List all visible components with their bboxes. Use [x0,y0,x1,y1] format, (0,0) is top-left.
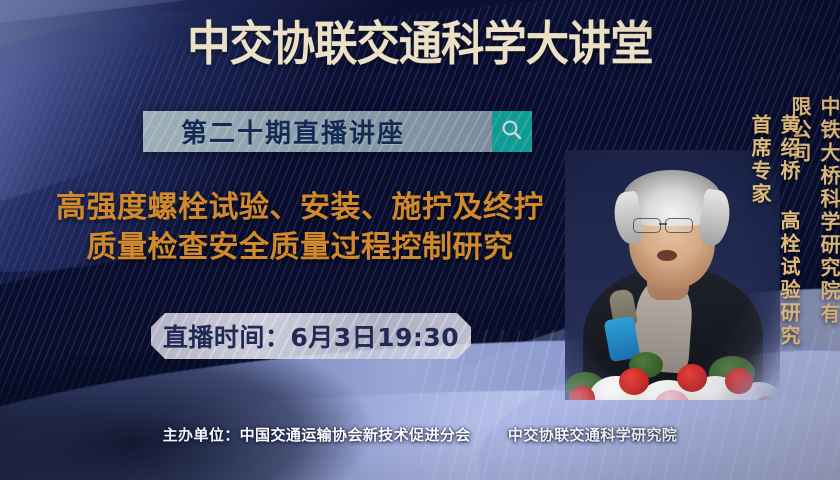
background-vignette [0,0,840,480]
search-input-value: 第二十期直播讲座 [181,113,405,150]
poster-canvas: 中交协联交通科学大讲堂 第二十期直播讲座 高强度螺栓试验、安装、施拧及终拧 质量… [0,0,840,480]
search-icon [500,118,524,146]
